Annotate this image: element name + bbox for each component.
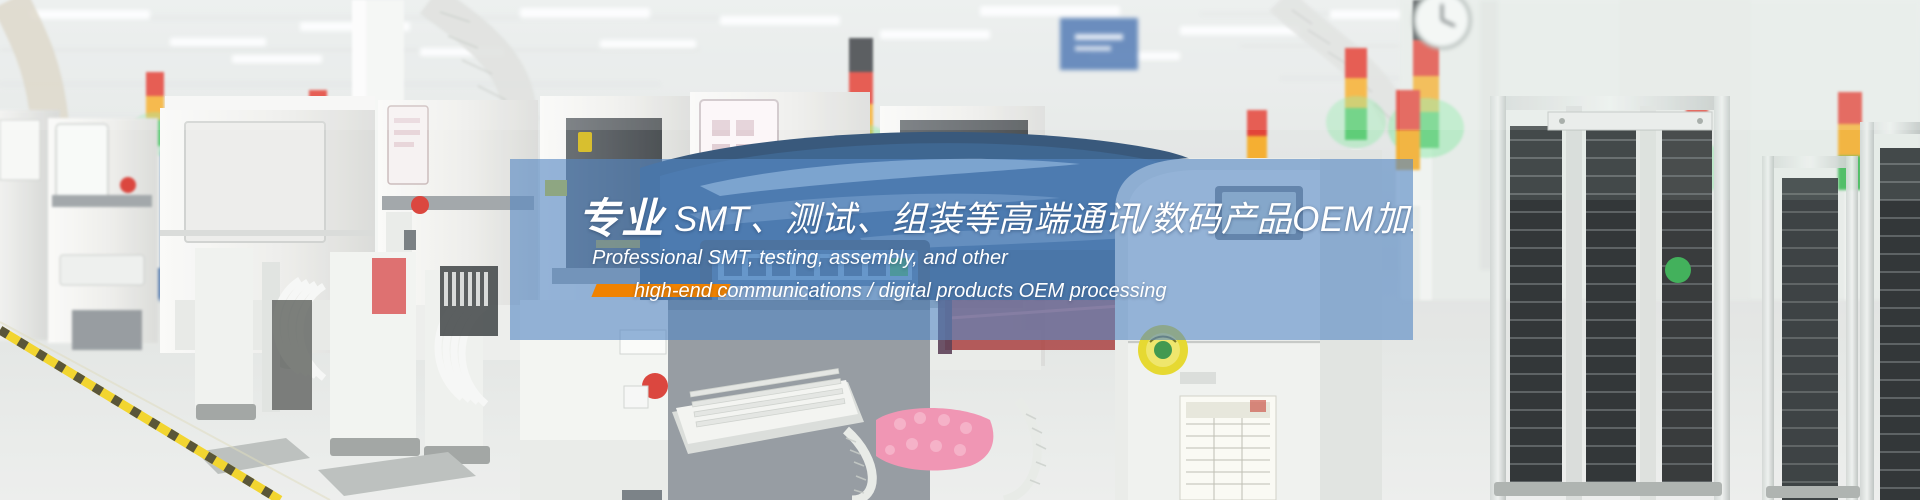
banner-subtitle-line-2: high-end communications / digital produc…: [634, 280, 1166, 303]
headline-body: SMT、测试、组装等高端通讯/数码产品OEM加工: [674, 200, 1413, 239]
banner-headline: 专业SMT、测试、组装等高端通讯/数码产品OEM加工: [578, 185, 1413, 246]
banner-subtitle-line-1: Professional SMT, testing, assembly, and…: [592, 247, 1008, 270]
hero-banner-screenshot: ASM 4: [0, 0, 1920, 500]
headline-emphasis: 专业: [578, 195, 664, 242]
banner-overlay: 专业SMT、测试、组装等高端通讯/数码产品OEM加工 Professional …: [510, 159, 1413, 340]
